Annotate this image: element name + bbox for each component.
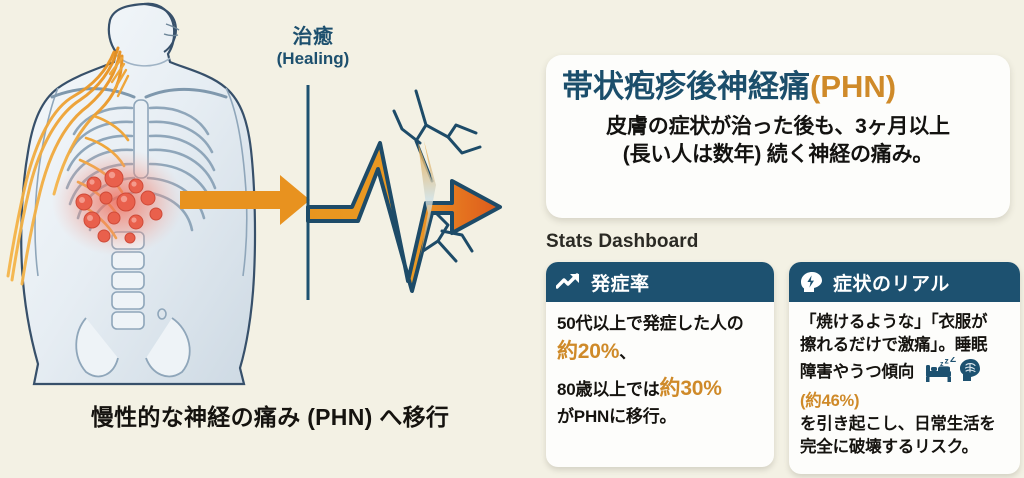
left-caption: 慢性的な神経の痛み (PHN) へ移行 [0, 398, 540, 432]
stats-dashboard-label: Stats Dashboard [546, 231, 698, 253]
trending-up-icon [556, 272, 582, 292]
stat-card-incidence-title: 発症率 [591, 269, 650, 296]
hero-subtitle-line2: (長い人は数年) 続く神経の痛み。 [562, 141, 994, 169]
incidence-line-3-head: 80歳以上では [557, 380, 660, 399]
symptoms-line-5: を引き起こし、日常生活を [800, 413, 1009, 436]
stat-card-symptoms-body: 「焼けるような」「衣服が 擦れるだけで激痛」。睡眠 障害やうつ傾向 [789, 302, 1020, 460]
zigzag-pain-arrow-diagram [180, 85, 540, 300]
incidence-line-2-tail: 、 [619, 343, 636, 362]
stat-card-incidence-header: 発症率 [546, 262, 774, 302]
healing-label-en: (Healing) [238, 49, 388, 68]
incidence-pct-20: 約20% [557, 340, 619, 363]
bed-zzz-brain-icon: z z Z [925, 357, 987, 383]
hero-card: 帯状疱疹後神経痛(PHN) 皮膚の症状が治った後も、3ヶ月以上 (長い人は数年)… [546, 55, 1010, 218]
incoming-arrow [180, 175, 310, 225]
symptoms-line-1: 「焼けるような」「衣服が [800, 311, 1009, 334]
svg-text:Z: Z [950, 357, 956, 365]
hero-title-main: 帯状疱疹後神経痛 [562, 69, 810, 104]
symptoms-pct-46: (約46%) [800, 392, 859, 410]
stat-card-incidence[interactable]: 発症率 50代以上で発症した人の 約20%、 80歳以上では約30% がPHNに… [546, 262, 774, 467]
symptoms-line-3: 障害やうつ傾向 z [800, 357, 1009, 390]
hero-title: 帯状疱疹後神経痛(PHN) [562, 69, 994, 106]
stat-card-incidence-body: 50代以上で発症した人の 約20%、 80歳以上では約30% がPHNに移行。 [546, 302, 774, 429]
left-illustration-panel: 治癒 (Healing) [0, 0, 540, 478]
svg-text:z: z [944, 357, 948, 366]
sleep-brain-icons: z z Z [925, 357, 987, 390]
pain-zigzag-arrow [308, 143, 500, 291]
stat-card-symptoms-title: 症状のリアル [833, 269, 950, 296]
incidence-line-1: 50代以上で発症した人の [557, 312, 763, 337]
incidence-line-2: 約20%、 [557, 337, 763, 367]
incidence-pct-30: 約30% [660, 377, 722, 400]
healing-label-jp: 治癒 [238, 26, 388, 48]
stat-card-symptoms[interactable]: 症状のリアル 「焼けるような」「衣服が 擦れるだけで激痛」。睡眠 障害やうつ傾向 [789, 262, 1020, 474]
infographic-stage: 治癒 (Healing) [0, 0, 1024, 478]
symptoms-line-2: 擦れるだけで激痛」。睡眠 [800, 334, 1009, 357]
symptoms-line-3-text: 障害やうつ傾向 [800, 363, 914, 381]
hero-title-abbr: (PHN) [810, 69, 896, 104]
head-bolt-icon [799, 270, 824, 294]
hero-subtitle: 皮膚の症状が治った後も、3ヶ月以上 (長い人は数年) 続く神経の痛み。 [562, 113, 994, 169]
stat-card-symptoms-header: 症状のリアル [789, 262, 1020, 302]
symptoms-line-6: 完全に破壊するリスク。 [800, 436, 1009, 459]
incidence-line-4: がPHNに移行。 [557, 405, 763, 430]
incidence-line-3: 80歳以上では約30% [557, 374, 763, 404]
symptoms-line-4: (約46%) [800, 390, 1009, 413]
hero-subtitle-line1: 皮膚の症状が治った後も、3ヶ月以上 [562, 113, 994, 141]
healing-label: 治癒 (Healing) [238, 26, 388, 68]
right-info-panel: 帯状疱疹後神経痛(PHN) 皮膚の症状が治った後も、3ヶ月以上 (長い人は数年)… [540, 0, 1024, 478]
